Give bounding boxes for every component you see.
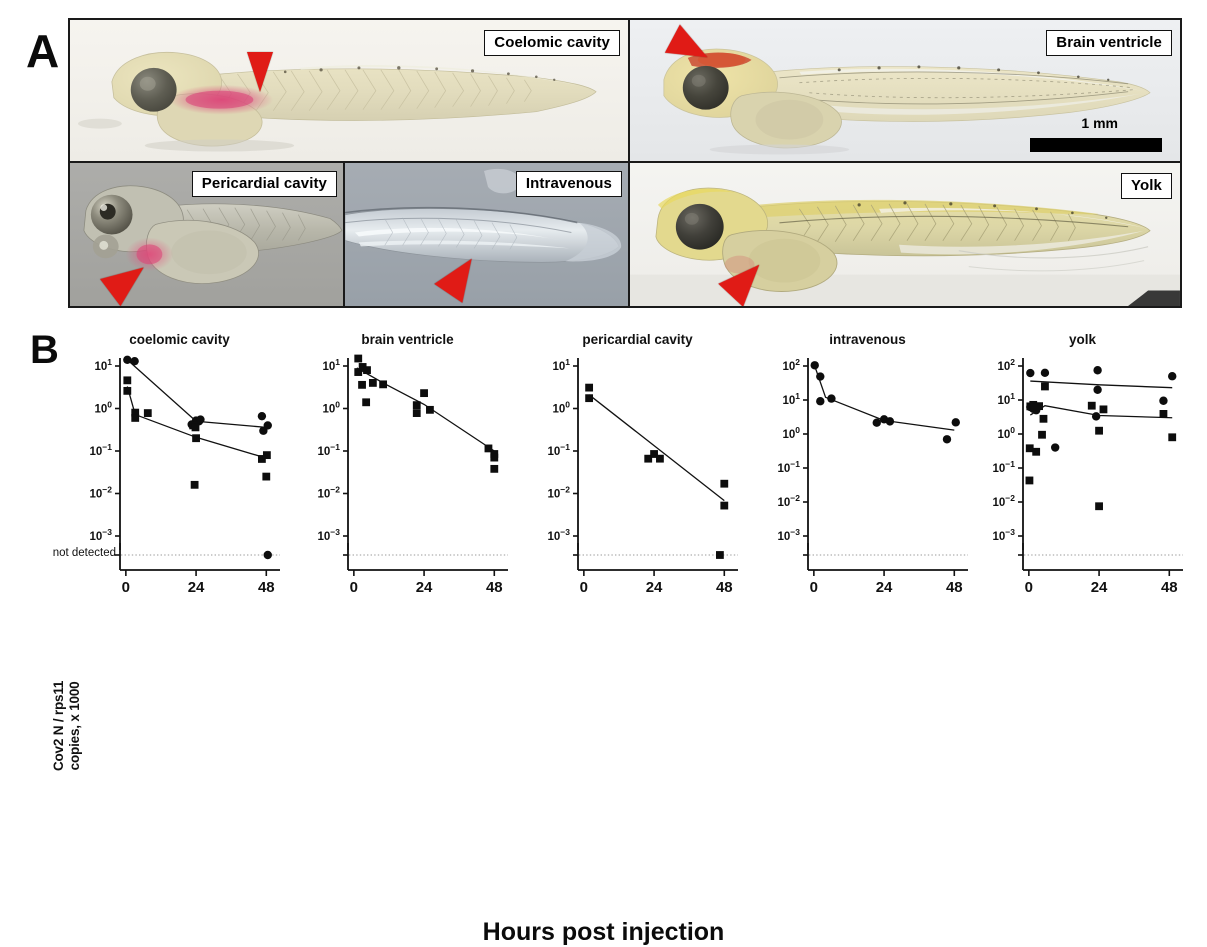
x-tick-label: 48: [486, 579, 503, 596]
y-tick-label: 101: [997, 391, 1015, 407]
data-point: [144, 409, 152, 417]
y-tick-label: 10−2: [548, 485, 571, 501]
y-tick-label: 100: [782, 425, 800, 441]
data-point: [420, 389, 428, 397]
x-tick-label: 24: [416, 579, 433, 596]
y-tick-label: 102: [782, 357, 800, 373]
micrograph-label-pericardial-cavity: Pericardial cavity: [192, 171, 337, 197]
x-tick-label: 24: [188, 579, 205, 596]
chart-intravenous: intravenous 10210110010−110−210−302448: [760, 318, 975, 608]
data-point: [1026, 477, 1034, 485]
chart-axes-area: 10110010−110−210−302448: [530, 318, 745, 608]
x-tick-label: 0: [580, 579, 588, 596]
y-tick-label: 10−2: [993, 493, 1016, 509]
micrograph-label-coelomic-cavity: Coelomic cavity: [484, 30, 620, 56]
panel-a-microscopy-grid: Coelomic cavity: [68, 18, 1182, 308]
data-point: [1160, 410, 1168, 418]
data-point: [816, 372, 824, 380]
x-tick-label: 48: [716, 579, 733, 596]
x-tick-label: 48: [946, 579, 963, 596]
x-tick-label: 0: [810, 579, 818, 596]
y-tick-label: 10−1: [993, 459, 1016, 475]
data-point: [716, 551, 724, 559]
fit-line: [589, 395, 724, 501]
y-axis-label-line1: Cov2 N / rps11: [51, 681, 66, 771]
data-point: [1100, 405, 1108, 413]
data-point: [1041, 369, 1049, 377]
micrograph-pericardial-cavity: Pericardial cavity: [69, 162, 344, 307]
data-point: [413, 401, 421, 409]
data-point: [490, 465, 498, 473]
y-axis-label: Cov2 N / rps11 copies, x 1000: [51, 641, 83, 811]
y-tick-label: 100: [552, 400, 570, 416]
data-point: [1032, 448, 1040, 456]
micrograph-label-brain-ventricle: Brain ventricle: [1046, 30, 1172, 56]
data-point: [369, 379, 377, 387]
x-axis-label: Hours post injection: [0, 918, 1207, 947]
data-point: [263, 451, 271, 459]
chart-axes-area: 10210110010−110−210−302448: [760, 318, 975, 608]
data-point: [123, 387, 131, 395]
x-tick-label: 0: [350, 579, 358, 596]
chart-svg: 10210110010−110−210−302448: [760, 318, 975, 608]
data-point: [585, 384, 593, 392]
x-tick-label: 24: [646, 579, 663, 596]
data-point: [1093, 386, 1101, 394]
data-point: [354, 355, 362, 363]
data-point: [358, 381, 366, 389]
data-point: [1038, 431, 1046, 439]
chart-svg: 10110010−110−210−302448: [300, 318, 515, 608]
scale-bar-label: 1 mm: [1081, 115, 1118, 131]
data-point: [1093, 366, 1101, 374]
y-tick-label: 10−2: [318, 485, 341, 501]
data-point: [585, 394, 593, 402]
data-point: [413, 409, 421, 417]
y-tick-label: 101: [782, 391, 800, 407]
y-tick-label: 10−1: [318, 442, 341, 458]
data-point: [362, 398, 370, 406]
data-point: [123, 376, 131, 384]
data-point: [1026, 369, 1034, 377]
data-point: [130, 357, 138, 365]
fit-line: [357, 368, 495, 451]
fish-image-yolk: [630, 163, 1180, 307]
data-point: [886, 417, 894, 425]
chart-axes-area: 10110010−110−210−302448: [300, 318, 515, 608]
data-point: [1040, 415, 1048, 423]
chart-svg: 10210110010−110−210−302448: [975, 318, 1190, 608]
chart-pericardial-cavity: pericardial cavity 10110010−110−210−3024…: [530, 318, 745, 608]
y-tick-label: 101: [552, 357, 570, 373]
data-point: [720, 502, 728, 510]
data-point: [131, 414, 139, 422]
data-point: [192, 434, 200, 442]
figure-root: A: [0, 0, 1207, 651]
data-point: [1168, 433, 1176, 441]
data-point: [123, 356, 131, 364]
chart-axes-area: 10110010−110−210−302448: [72, 318, 287, 608]
data-point: [943, 435, 951, 443]
y-tick-label: 10−3: [90, 527, 113, 543]
data-point: [1041, 383, 1049, 391]
x-tick-label: 48: [258, 579, 275, 596]
micrograph-yolk: Yolk: [629, 162, 1181, 307]
data-point: [191, 481, 199, 489]
data-point: [827, 394, 835, 402]
data-point: [1168, 372, 1176, 380]
x-tick-label: 24: [876, 579, 893, 596]
chart-axes-area: 10210110010−110−210−302448: [975, 318, 1190, 608]
chart-svg: 10110010−110−210−302448: [72, 318, 287, 608]
data-point: [811, 361, 819, 369]
y-tick-label: 10−2: [90, 485, 113, 501]
y-tick-label: 100: [322, 400, 340, 416]
data-point: [192, 423, 200, 431]
data-point: [952, 418, 960, 426]
y-tick-label: 100: [94, 400, 112, 416]
red-arrowhead-icon: [247, 52, 273, 92]
y-tick-label: 10−3: [548, 527, 571, 543]
data-point: [196, 415, 204, 423]
y-axis-label-line2: copies, x 1000: [67, 682, 82, 771]
y-tick-label: 100: [997, 425, 1015, 441]
x-tick-label: 0: [1025, 579, 1033, 596]
y-tick-label: 10−1: [548, 442, 571, 458]
y-tick-label: 10−3: [318, 527, 341, 543]
data-point: [1095, 502, 1103, 510]
y-tick-label: 10−2: [778, 493, 801, 509]
data-point: [490, 454, 498, 462]
micrograph-label-yolk: Yolk: [1121, 173, 1172, 199]
data-point: [1088, 402, 1096, 410]
data-point: [1159, 397, 1167, 405]
data-point: [258, 412, 266, 420]
data-point: [816, 397, 824, 405]
data-point: [656, 455, 664, 463]
data-point: [264, 551, 272, 559]
data-point: [264, 421, 272, 429]
micrograph-brain-ventricle: Brain ventricle 1 mm: [629, 19, 1181, 162]
x-tick-label: 48: [1161, 579, 1178, 596]
data-point: [1095, 427, 1103, 435]
x-tick-label: 24: [1091, 579, 1108, 596]
data-point: [1035, 402, 1043, 410]
data-point: [262, 473, 270, 481]
chart-yolk: yolk 10210110010−110−210−302448: [975, 318, 1190, 608]
data-point: [873, 418, 881, 426]
chart-brain-ventricle: brain ventricle 10110010−110−210−302448: [300, 318, 515, 608]
y-tick-label: 10−1: [778, 459, 801, 475]
micrograph-coelomic-cavity: Coelomic cavity: [69, 19, 629, 162]
x-tick-label: 0: [122, 579, 130, 596]
data-point: [379, 380, 387, 388]
micrograph-intravenous: Intravenous: [344, 162, 629, 307]
y-tick-label: 102: [997, 357, 1015, 373]
y-tick-label: 101: [322, 357, 340, 373]
y-tick-label: 10−3: [778, 527, 801, 543]
data-point: [1092, 412, 1100, 420]
y-tick-label: 10−3: [993, 527, 1016, 543]
data-point: [426, 406, 434, 414]
panel-a-letter: A: [26, 28, 59, 74]
not-detected-label: not detected: [53, 547, 116, 559]
chart-coelomic-cavity: coelomic cavity 10110010−110−210−302448 …: [72, 318, 287, 608]
fit-line: [1030, 381, 1172, 388]
scale-bar: [1030, 138, 1162, 152]
data-point: [720, 480, 728, 488]
chart-svg: 10110010−110−210−302448: [530, 318, 745, 608]
panel-b-charts: Cov2 N / rps11 copies, x 1000 coelomic c…: [0, 318, 1207, 651]
y-tick-label: 10−1: [90, 442, 113, 458]
data-point: [363, 366, 371, 374]
micrograph-label-intravenous: Intravenous: [516, 171, 622, 197]
data-point: [1051, 443, 1059, 451]
y-tick-label: 101: [94, 357, 112, 373]
